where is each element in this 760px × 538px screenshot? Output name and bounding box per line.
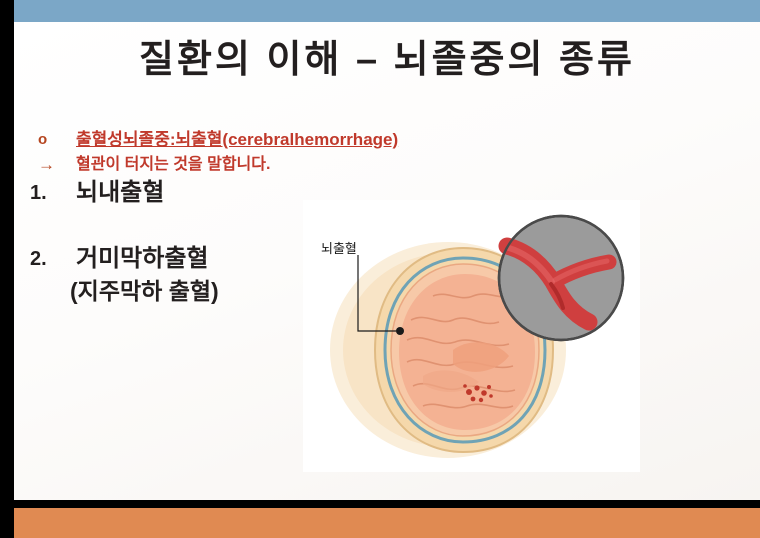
bottom-orange-band — [0, 508, 760, 538]
bottom-black-strip — [0, 500, 760, 508]
top-band — [0, 0, 760, 22]
bullet-text-3: 뇌내출혈 — [76, 178, 164, 208]
bullet-item-1: o 출혈성뇌졸중:뇌출혈(cerebralhemorrhage) — [20, 128, 450, 152]
bullet-text-2: 혈관이 터지는 것을 말합니다. — [76, 154, 270, 176]
slide: 질환의 이해 – 뇌졸중의 종류 o 출혈성뇌졸중:뇌출혈(cerebralhe… — [0, 0, 760, 538]
left-black-bar — [0, 0, 14, 538]
bullet-text-4: 거미막하출혈 — [76, 244, 208, 274]
bottom-band-left-cap — [0, 508, 14, 538]
bullet-text-5: (지주막하 출혈) — [20, 276, 219, 306]
top-band-left-cap — [0, 0, 14, 22]
list-number-2: 2. — [20, 244, 76, 274]
ring-bullet-icon: o — [20, 128, 76, 152]
arrow-bullet-icon: → — [20, 154, 76, 176]
list-number-1: 1. — [20, 178, 76, 208]
figure-caption: 뇌출혈 — [321, 238, 357, 257]
slide-title: 질환의 이해 – 뇌졸중의 종류 — [14, 28, 760, 83]
bullet-text-1: 출혈성뇌졸중:뇌출혈(cerebralhemorrhage) — [76, 128, 398, 152]
brain-hemorrhage-illustration: 뇌출혈 — [303, 200, 640, 472]
bullet-item-2: → 혈관이 터지는 것을 말합니다. — [20, 154, 450, 176]
